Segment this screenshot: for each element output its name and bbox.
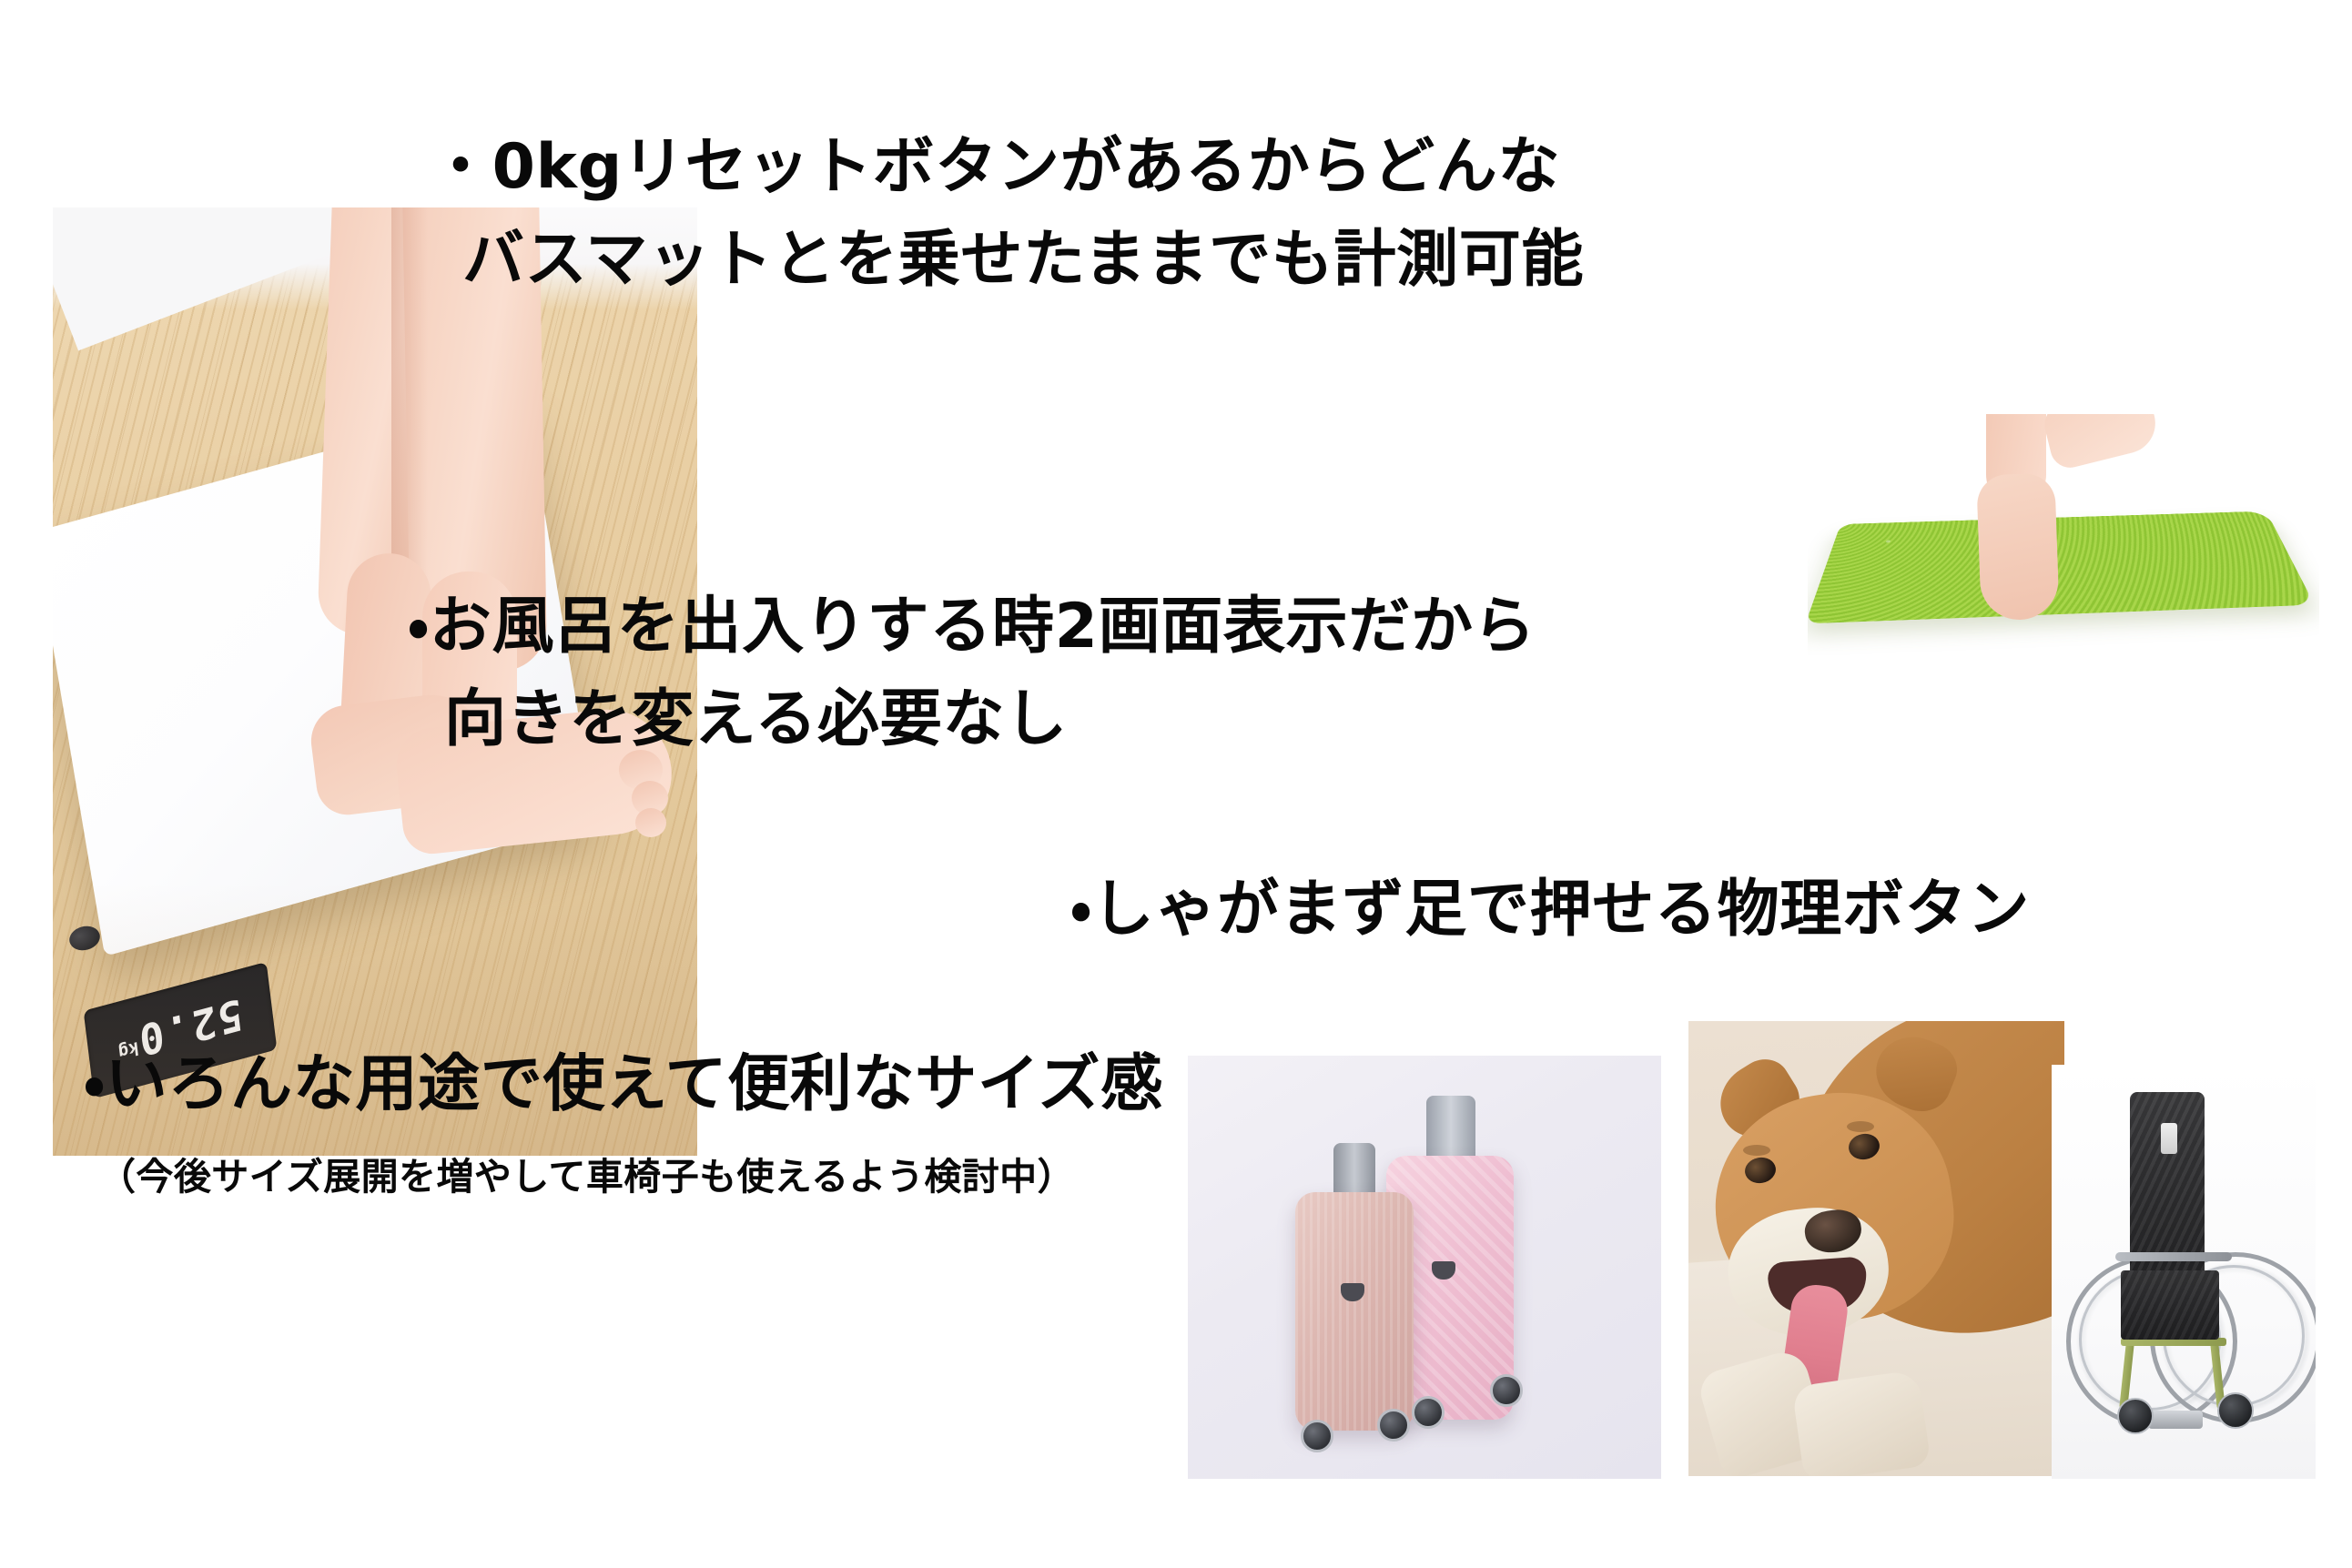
bathmat-foot-standing xyxy=(1976,473,2060,622)
suitcase-wheel-4 xyxy=(1490,1374,1523,1407)
photo-wheelchair xyxy=(2052,1065,2316,1479)
bullet-size-note: （今後サイズ展開を増やして車椅子も使えるよう検討中） xyxy=(98,1158,1075,1196)
suitcase-handle-grip-rose xyxy=(1333,1143,1375,1196)
suitcase-handle-grip-pink xyxy=(1426,1096,1475,1161)
bullet-zero-reset-line-1: ・0kgリセットボタンがあるからどんな xyxy=(430,137,1560,198)
bullet-physical-button-line-1: ・しゃがまず足で押せる物理ボタン xyxy=(1070,879,2030,941)
wheelchair-seat xyxy=(2121,1270,2219,1340)
photo-scale-with-legs: 52.0kg 52.0kg xyxy=(53,207,697,1156)
suitcase-wheel-3 xyxy=(1412,1396,1445,1429)
bullet-dual-display-line-1: ・お風呂を出入りする時2画面表示だから xyxy=(408,596,1536,658)
dog-brow-left xyxy=(1743,1145,1770,1156)
toe-3 xyxy=(635,808,666,837)
bullet-size-line-1: ・いろんな用途で使えて便利なサイズ感 xyxy=(84,1054,1163,1116)
product-feature-slide: 52.0kg 52.0kg xyxy=(0,0,2352,1568)
wheelchair-footplate xyxy=(2148,1411,2203,1429)
wheelchair-armrest xyxy=(2115,1252,2232,1261)
photo-dog xyxy=(1688,1021,2064,1476)
suitcase-wheel-2 xyxy=(1377,1409,1410,1442)
wheelchair-caster-left xyxy=(2117,1398,2154,1434)
bullet-dual-display-line-2: 向きを変える必要なし xyxy=(444,689,1068,751)
dog-brow-right xyxy=(1847,1121,1874,1132)
bathmat-foot-lifted xyxy=(2040,414,2162,471)
wheelchair-caster-right xyxy=(2217,1392,2254,1429)
photo-bathmat xyxy=(1808,414,2319,655)
bathmat-surface xyxy=(1808,511,2315,624)
suitcase-rose-gold xyxy=(1295,1192,1414,1431)
wheelchair-brand-badge xyxy=(2161,1123,2177,1154)
bullet-zero-reset-line-2: バスマットとを乗せたままでも計測可能 xyxy=(462,229,1584,291)
dog-paw-right xyxy=(1791,1370,1931,1476)
wheelchair-backrest xyxy=(2130,1092,2205,1274)
suitcase-wheel-1 xyxy=(1301,1420,1333,1452)
photo-suitcases xyxy=(1188,1056,1661,1479)
